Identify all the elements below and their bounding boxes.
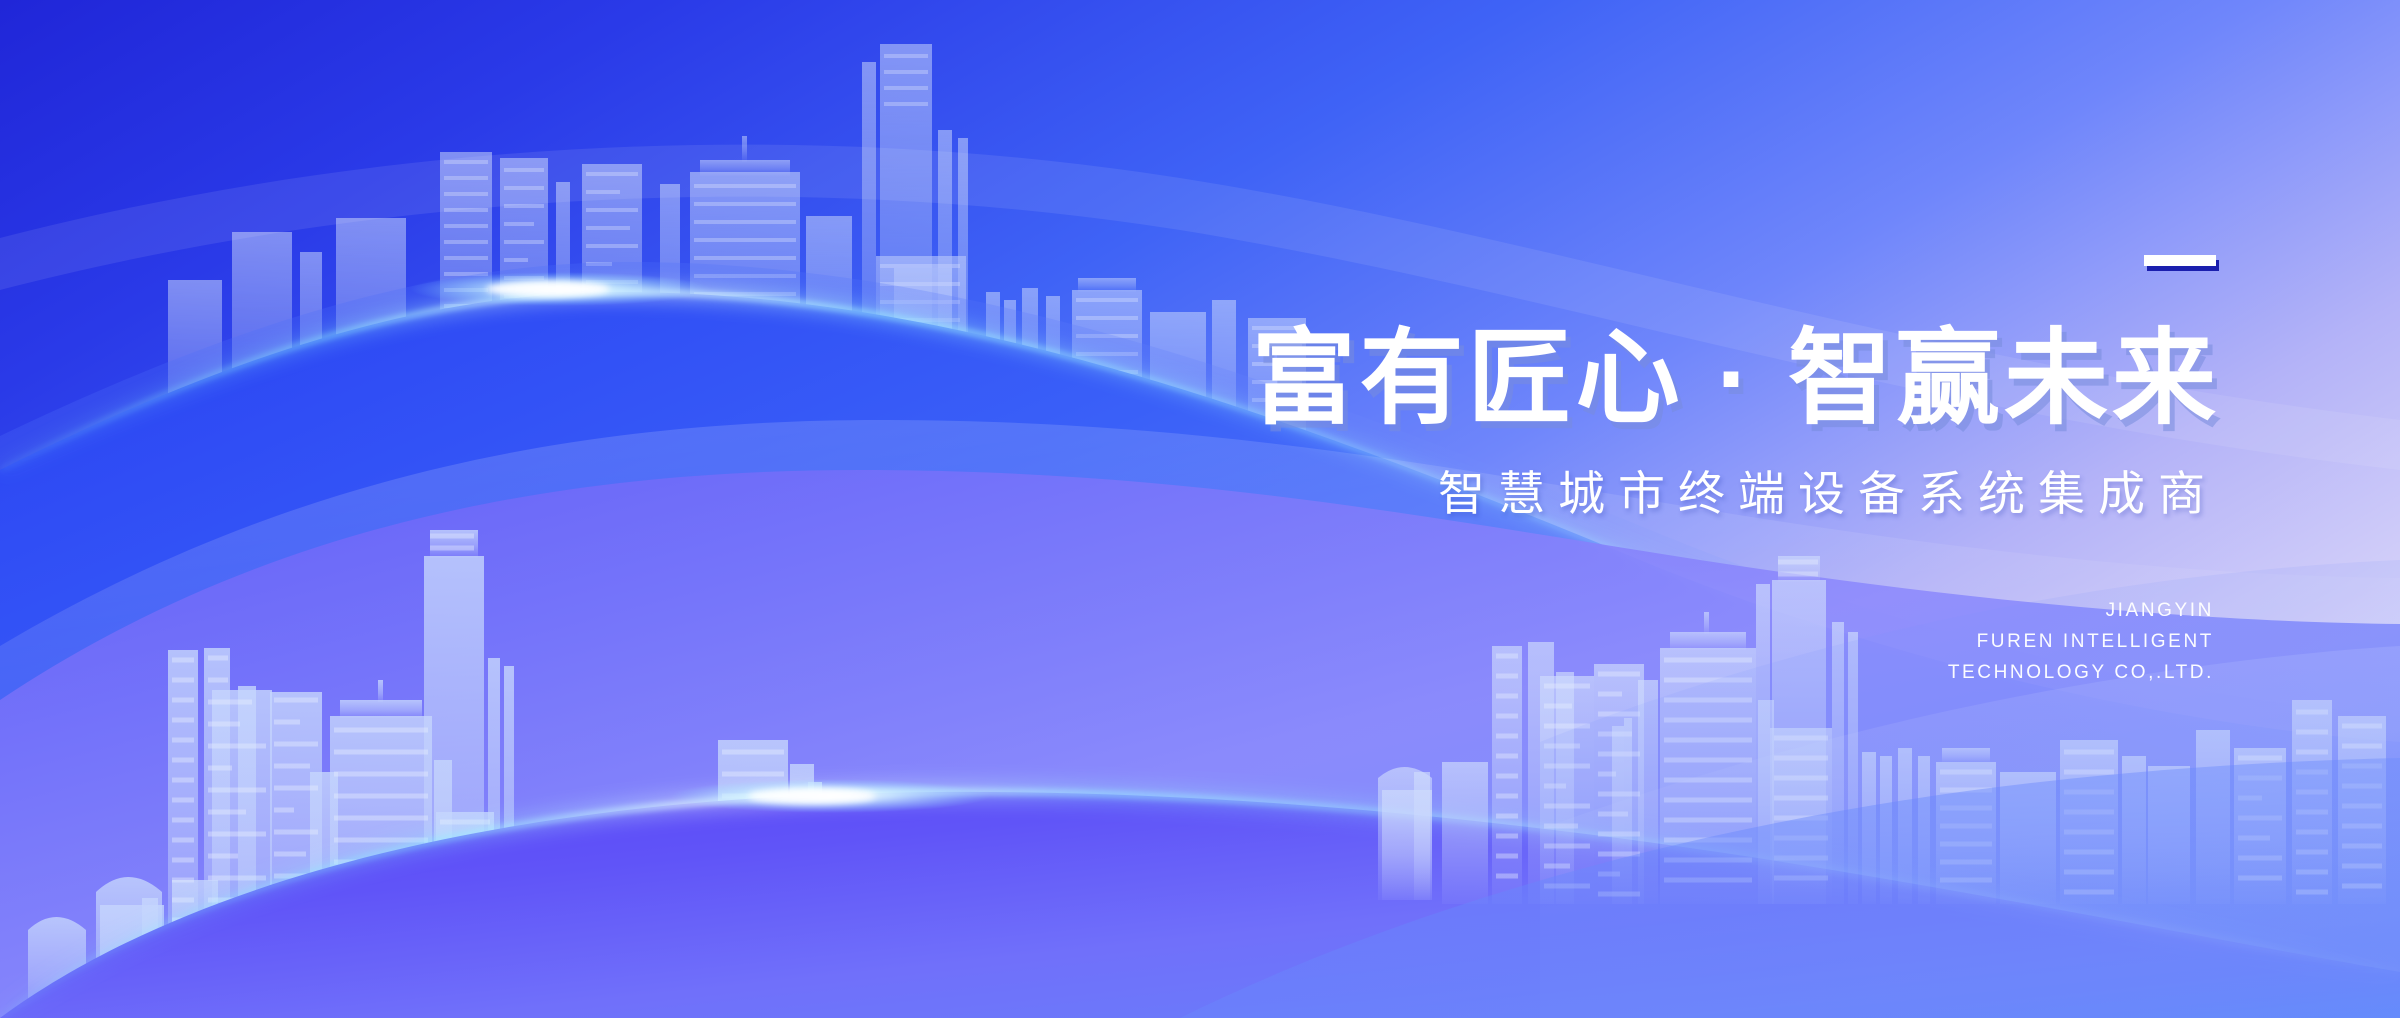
headline-block: 富有匠心 · 智赢未来 智慧城市终端设备系统集成商 JIANGYIN FUREN… xyxy=(1040,255,2220,688)
page-title: 富有匠心 · 智赢未来 xyxy=(1040,327,2220,431)
company-line-2: FUREN INTELLIGENT xyxy=(1040,627,2214,658)
page-subtitle: 智慧城市终端设备系统集成商 xyxy=(1040,455,2220,524)
dash-mark-icon xyxy=(2144,255,2216,266)
company-name-en: JIANGYIN FUREN INTELLIGENT TECHNOLOGY CO… xyxy=(1040,596,2220,688)
company-line-3: TECHNOLOGY CO,.LTD. xyxy=(1040,658,2214,689)
banner-root: 富有匠心 · 智赢未来 智慧城市终端设备系统集成商 JIANGYIN FUREN… xyxy=(0,0,2400,1018)
company-line-1: JIANGYIN xyxy=(1040,596,2214,627)
dash-decor-row xyxy=(1040,255,2220,327)
